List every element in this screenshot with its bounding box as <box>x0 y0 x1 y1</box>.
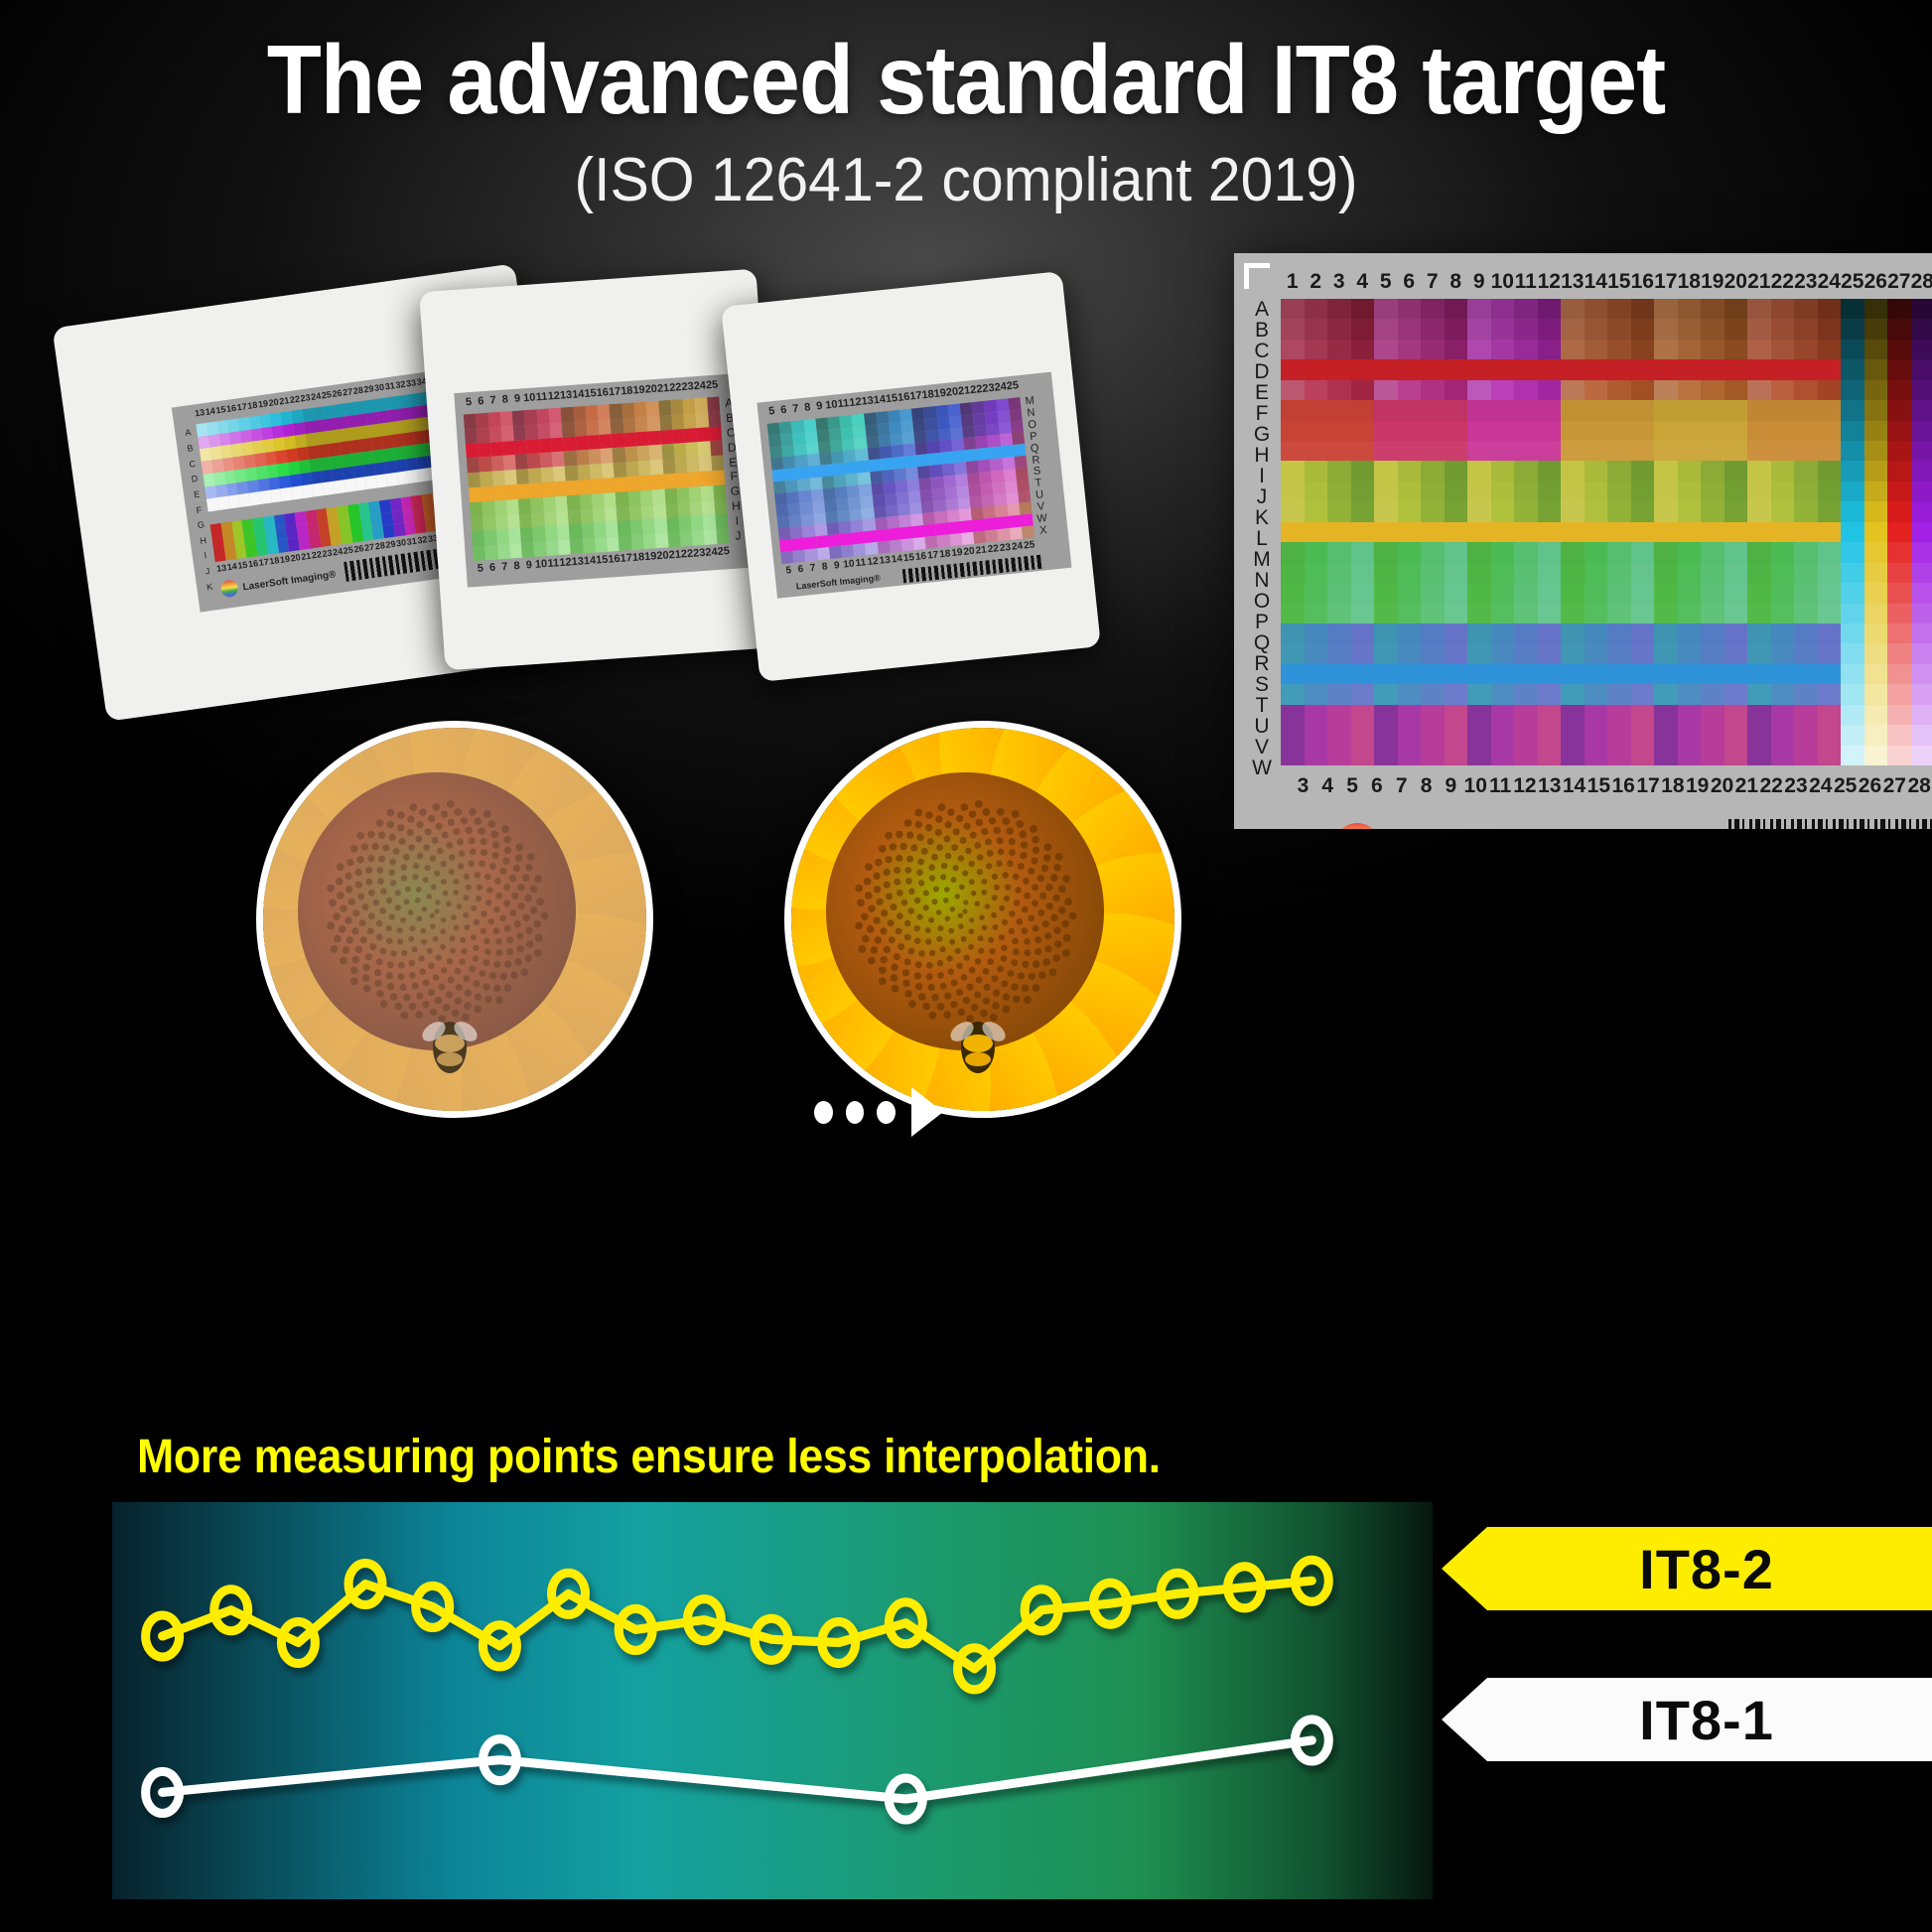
color-patch <box>1491 299 1515 319</box>
column-label: 23 <box>693 547 706 562</box>
column-label: 12 <box>547 390 560 406</box>
color-patch <box>1327 299 1351 319</box>
color-patch <box>1305 461 1328 481</box>
row-label: R <box>1246 653 1278 674</box>
color-patch <box>1818 623 1842 643</box>
color-patch <box>674 458 687 474</box>
row-label: D <box>1246 361 1278 382</box>
legend-tag-it8-1[interactable]: IT8-1 <box>1442 1678 1932 1761</box>
color-patch <box>1631 725 1655 745</box>
color-patch <box>667 532 680 548</box>
color-patch <box>634 416 647 432</box>
color-patch <box>1327 542 1351 562</box>
color-patch <box>1491 482 1515 501</box>
color-patch <box>1305 604 1328 623</box>
color-patch <box>1445 746 1468 765</box>
color-patch <box>1725 705 1748 725</box>
color-patch <box>1445 359 1468 379</box>
column-label: 7 <box>498 561 511 576</box>
color-patch <box>1654 461 1678 481</box>
color-patch <box>615 477 627 492</box>
color-patch <box>1747 421 1771 441</box>
row-label: Q <box>1246 632 1278 653</box>
color-patch <box>1398 522 1422 542</box>
row-label: M <box>1246 549 1278 570</box>
column-label: 15 <box>596 554 609 569</box>
column-label: 25 <box>1006 379 1020 395</box>
color-patch <box>1818 299 1842 319</box>
color-patch <box>1327 421 1351 441</box>
color-patch <box>1607 604 1631 623</box>
color-patch <box>1445 441 1468 461</box>
color-patch <box>1585 522 1608 542</box>
color-patch <box>699 456 712 472</box>
color-patch <box>1585 501 1608 521</box>
color-patch <box>1421 461 1445 481</box>
color-patch <box>512 410 525 426</box>
color-patch <box>1491 542 1515 562</box>
color-patch <box>1585 542 1608 562</box>
color-patch <box>1771 340 1795 359</box>
header: The advanced standard IT8 target (ISO 12… <box>0 28 1932 214</box>
color-patch <box>1351 400 1375 420</box>
color-patch <box>1818 461 1842 481</box>
color-patch <box>653 503 666 519</box>
column-label: 17 <box>609 385 621 401</box>
color-patch <box>1794 359 1818 379</box>
color-patch <box>623 432 636 448</box>
color-patch <box>1421 623 1445 643</box>
color-patch <box>1374 501 1398 521</box>
color-patch <box>1374 725 1398 745</box>
color-patch <box>1794 746 1818 765</box>
color-patch <box>1351 746 1375 765</box>
color-patch <box>690 501 703 517</box>
color-patch <box>703 514 716 530</box>
color-patch <box>472 531 484 547</box>
color-patch <box>1327 725 1351 745</box>
color-patch <box>709 426 722 442</box>
color-patch <box>1585 421 1608 441</box>
color-patch <box>1841 421 1864 441</box>
color-patch <box>1607 746 1631 765</box>
color-patch <box>480 472 492 487</box>
color-patch <box>621 403 634 419</box>
color-patch <box>1538 563 1562 583</box>
color-patch <box>1794 482 1818 501</box>
color-patch <box>1398 542 1422 562</box>
color-patch <box>1491 461 1515 481</box>
color-patch <box>466 443 479 459</box>
column-label: 16 <box>1611 774 1636 798</box>
column-label: 8 <box>1414 774 1439 798</box>
arrow-dot-icon <box>814 1101 833 1124</box>
color-patch <box>1514 583 1538 603</box>
color-patch <box>1887 400 1911 420</box>
color-patch <box>1725 380 1748 400</box>
color-patch <box>1725 359 1748 379</box>
color-patch <box>1305 400 1328 420</box>
color-patch <box>565 466 578 482</box>
color-patch <box>1701 340 1725 359</box>
color-patch <box>1491 725 1515 745</box>
color-patch <box>1771 522 1795 542</box>
color-patch <box>1305 664 1328 684</box>
color-patch <box>1887 664 1911 684</box>
color-patch <box>1818 319 1842 339</box>
color-patch <box>698 442 711 458</box>
arrow-triangle-icon <box>911 1087 943 1137</box>
color-patch <box>1747 746 1771 765</box>
color-patch <box>1794 501 1818 521</box>
color-patch <box>613 448 625 464</box>
color-patch <box>660 429 673 445</box>
column-label: 8 <box>510 560 523 575</box>
color-patch <box>1841 725 1864 745</box>
column-label: 22 <box>1771 270 1795 294</box>
legend-label-it8-2: IT8-2 <box>1639 1537 1774 1601</box>
color-patch <box>1654 340 1678 359</box>
color-patch <box>689 486 702 502</box>
color-patch <box>664 488 677 504</box>
color-patch <box>1864 623 1888 643</box>
color-patch <box>1747 522 1771 542</box>
color-patch <box>1654 623 1678 643</box>
color-patch <box>590 479 603 494</box>
color-patch <box>1281 746 1305 765</box>
color-patch <box>1631 664 1655 684</box>
color-patch <box>1561 421 1585 441</box>
column-label: 10 <box>523 391 536 407</box>
color-patch <box>1864 359 1888 379</box>
color-patch <box>1911 684 1932 704</box>
row-label: H <box>1246 445 1278 466</box>
color-patch <box>1305 380 1328 400</box>
color-patch <box>489 441 502 457</box>
color-patch <box>658 400 671 416</box>
color-patch <box>1864 583 1888 603</box>
color-patch <box>619 535 631 551</box>
color-patch <box>622 417 635 433</box>
color-patch <box>1327 340 1351 359</box>
color-patch <box>1538 441 1562 461</box>
color-patch <box>1911 563 1932 583</box>
color-patch <box>1654 643 1678 663</box>
column-label: 10 <box>535 558 548 573</box>
color-patch <box>1747 400 1771 420</box>
color-patch <box>1445 725 1468 745</box>
column-label: 18 <box>632 551 645 566</box>
color-patch <box>1911 501 1932 521</box>
color-patch <box>1374 623 1398 643</box>
color-patch <box>1445 421 1468 441</box>
color-patch <box>1305 623 1328 643</box>
legend-tag-it8-2[interactable]: IT8-2 <box>1442 1527 1932 1610</box>
color-patch <box>1327 482 1351 501</box>
color-patch <box>1678 725 1702 745</box>
color-patch <box>1538 501 1562 521</box>
color-patch <box>1631 705 1655 725</box>
color-patch <box>1305 441 1328 461</box>
color-patch <box>470 501 483 517</box>
color-patch <box>1725 684 1748 704</box>
color-patch <box>1445 542 1468 562</box>
color-patch <box>502 441 515 457</box>
color-patch <box>497 544 510 560</box>
color-patch <box>1747 340 1771 359</box>
color-patch <box>526 439 539 455</box>
color-patch <box>670 399 683 415</box>
color-patch <box>551 437 564 453</box>
color-patch <box>1887 542 1911 562</box>
color-patch <box>1585 643 1608 663</box>
color-patch <box>1467 643 1491 663</box>
color-patch <box>649 445 662 461</box>
color-patch <box>1631 604 1655 623</box>
color-patch <box>1398 746 1422 765</box>
column-label: 24 <box>1818 270 1842 294</box>
color-patch <box>700 471 713 486</box>
color-patch <box>1445 461 1468 481</box>
color-patch <box>1841 299 1864 319</box>
color-patch <box>1281 319 1305 339</box>
color-patch <box>1631 421 1655 441</box>
color-patch <box>518 498 531 514</box>
column-label: 13 <box>560 389 573 405</box>
column-label: 27 <box>1882 774 1907 798</box>
color-patch <box>1678 482 1702 501</box>
color-patch <box>589 464 602 480</box>
color-patch <box>1678 705 1702 725</box>
column-label: 17 <box>1636 774 1661 798</box>
color-patch <box>1818 725 1842 745</box>
color-patch <box>662 459 675 475</box>
color-patch <box>1607 421 1631 441</box>
color-patch <box>1398 380 1422 400</box>
column-label: 4 <box>1315 774 1340 798</box>
color-patch <box>1467 746 1491 765</box>
color-patch <box>521 542 534 558</box>
color-patch <box>1678 684 1702 704</box>
color-patch <box>1585 563 1608 583</box>
column-label: 25 <box>1023 539 1036 554</box>
target-row-headers: ABCDEFGHIJKLMNOPQRSTUVW <box>1246 299 1278 765</box>
target-footer: LSI LaserSoft Imaging® R171105 <box>1234 805 1932 829</box>
slide-1-logo-icon <box>220 579 239 598</box>
color-patch <box>517 483 530 499</box>
color-patch <box>685 443 698 459</box>
color-patch <box>1771 501 1795 521</box>
color-patch <box>490 456 503 472</box>
color-patch <box>1701 684 1725 704</box>
column-label: 6 <box>475 395 487 411</box>
color-patch <box>611 418 623 434</box>
color-patch <box>1678 319 1702 339</box>
color-patch <box>1467 664 1491 684</box>
color-patch <box>1491 664 1515 684</box>
color-patch <box>691 515 704 531</box>
color-patch <box>1281 380 1305 400</box>
column-label: 23 <box>1794 270 1818 294</box>
color-patch <box>1305 359 1328 379</box>
color-patch <box>1305 746 1328 765</box>
color-patch <box>659 415 672 431</box>
color-patch <box>1374 319 1398 339</box>
color-patch <box>1678 604 1702 623</box>
color-patch <box>1281 705 1305 725</box>
column-label: 20 <box>1725 270 1748 294</box>
color-patch <box>546 540 559 556</box>
color-patch <box>1911 542 1932 562</box>
color-patch <box>1631 340 1655 359</box>
color-patch <box>1701 461 1725 481</box>
color-patch <box>646 401 659 417</box>
color-patch <box>530 497 543 513</box>
color-patch <box>1887 623 1911 643</box>
color-patch <box>576 450 589 466</box>
color-patch <box>1631 542 1655 562</box>
color-patch <box>1841 441 1864 461</box>
column-label: 9 <box>1439 774 1463 798</box>
color-patch <box>1911 380 1932 400</box>
color-patch <box>1794 705 1818 725</box>
color-patch <box>549 408 562 424</box>
color-patch <box>1538 583 1562 603</box>
color-patch <box>1514 319 1538 339</box>
color-patch <box>1467 461 1491 481</box>
row-label: T <box>1246 695 1278 716</box>
row-label: B <box>1246 320 1278 341</box>
color-patch <box>595 537 608 553</box>
color-patch <box>1818 746 1842 765</box>
color-patch <box>1585 705 1608 725</box>
color-patch <box>1864 441 1888 461</box>
row-label: V <box>1246 737 1278 758</box>
color-patch <box>1538 340 1562 359</box>
color-patch <box>1467 400 1491 420</box>
color-patch <box>1421 604 1445 623</box>
color-patch <box>1374 664 1398 684</box>
color-patch <box>1445 684 1468 704</box>
row-label: U <box>1246 716 1278 737</box>
color-patch <box>1911 623 1932 643</box>
column-label: 9 <box>511 392 524 408</box>
column-label: 25 <box>717 545 730 560</box>
color-patch <box>1374 563 1398 583</box>
column-label: 24 <box>1808 774 1833 798</box>
color-patch <box>1864 522 1888 542</box>
color-patch <box>1771 746 1795 765</box>
color-patch <box>692 530 705 546</box>
color-patch <box>1725 441 1748 461</box>
color-patch <box>601 449 614 465</box>
column-label: 7 <box>1421 270 1445 294</box>
color-patch <box>711 456 724 472</box>
color-patch <box>558 540 571 556</box>
color-patch <box>1327 583 1351 603</box>
color-patch <box>1585 725 1608 745</box>
color-patch <box>1607 299 1631 319</box>
color-patch <box>1794 604 1818 623</box>
column-label: 19 <box>632 384 645 400</box>
color-patch <box>1747 705 1771 725</box>
color-patch <box>1887 725 1911 745</box>
color-patch <box>1794 643 1818 663</box>
color-patch <box>1467 501 1491 521</box>
color-patch <box>1841 400 1864 420</box>
color-patch <box>1725 604 1748 623</box>
color-patch <box>1305 340 1328 359</box>
color-patch <box>1398 643 1422 663</box>
color-patch <box>1794 441 1818 461</box>
color-patch <box>1771 664 1795 684</box>
color-patch <box>1351 319 1375 339</box>
color-patch <box>1374 705 1398 725</box>
column-label: 28 <box>1911 270 1932 294</box>
color-patch <box>1327 441 1351 461</box>
color-patch <box>1747 604 1771 623</box>
color-patch <box>1327 604 1351 623</box>
color-patch <box>1374 299 1398 319</box>
column-label: 26 <box>1864 270 1888 294</box>
color-patch <box>1771 725 1795 745</box>
color-patch <box>1654 501 1678 521</box>
color-patch <box>527 454 540 470</box>
color-patch <box>1911 299 1932 319</box>
column-label: 11 <box>547 557 560 572</box>
color-patch <box>1794 461 1818 481</box>
row-label: F <box>1246 403 1278 424</box>
column-label: 19 <box>1685 774 1710 798</box>
color-patch <box>1538 705 1562 725</box>
color-patch <box>1818 705 1842 725</box>
color-patch <box>673 443 686 459</box>
color-patch <box>1794 725 1818 745</box>
color-patch <box>592 493 605 509</box>
column-label: 24 <box>705 546 718 561</box>
color-patch <box>1864 705 1888 725</box>
color-patch <box>1911 461 1932 481</box>
column-label: 25 <box>1841 270 1864 294</box>
color-patch <box>1607 501 1631 521</box>
color-patch <box>1445 400 1468 420</box>
color-patch <box>467 458 480 474</box>
color-patch <box>553 467 566 483</box>
color-patch <box>1841 746 1864 765</box>
color-patch <box>1327 380 1351 400</box>
registration-mark-icon <box>1244 263 1270 289</box>
it8-slide-3: 5678910111213141516171819202122232425 MN… <box>721 271 1101 682</box>
column-label: 12 <box>559 556 572 571</box>
color-patch <box>1631 684 1655 704</box>
color-patch <box>1747 482 1771 501</box>
color-patch <box>566 481 579 496</box>
color-patch <box>682 398 695 414</box>
color-patch <box>1818 501 1842 521</box>
color-patch <box>1561 604 1585 623</box>
color-patch <box>1398 583 1422 603</box>
color-patch <box>1771 623 1795 643</box>
color-patch <box>1747 441 1771 461</box>
color-patch <box>1607 522 1631 542</box>
color-patch <box>484 545 497 561</box>
color-patch <box>1747 583 1771 603</box>
color-patch <box>1538 400 1562 420</box>
color-patch <box>1421 664 1445 684</box>
color-patch <box>581 523 594 539</box>
color-patch <box>1538 482 1562 501</box>
color-patch <box>1327 461 1351 481</box>
